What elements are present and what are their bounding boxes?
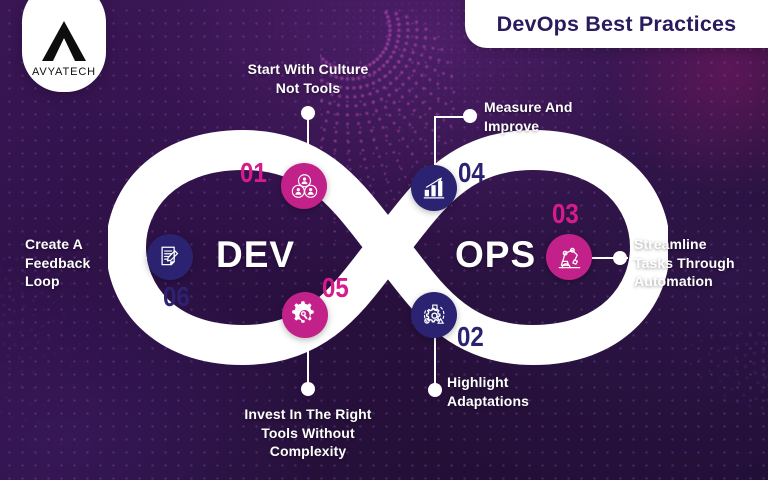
- step-caption-05-line2: Tools Without: [216, 424, 400, 443]
- title-banner: DevOps Best Practices: [465, 0, 768, 48]
- connector-dot-step-02: [428, 383, 442, 397]
- step-caption-04: Measure And Improve: [484, 98, 624, 135]
- step-caption-02-line1: Highlight: [447, 373, 597, 392]
- loop-label-dev: DEV: [216, 234, 295, 276]
- bar-chart-growth-icon: [421, 175, 447, 201]
- step-caption-01-line2: Not Tools: [218, 79, 398, 98]
- step-caption-06-line1: Create A: [25, 235, 145, 254]
- connector-line-step-05: [307, 340, 309, 388]
- step-caption-01: Start With Culture Not Tools: [218, 60, 398, 97]
- chevron-a-logo-icon: [38, 19, 90, 63]
- step-caption-03-line2: Tasks Through: [634, 254, 764, 273]
- step-icon-03[interactable]: [546, 234, 592, 280]
- document-pencil-icon: [157, 244, 183, 270]
- step-caption-02: Highlight Adaptations: [447, 373, 597, 410]
- gear-shapes-icon: [421, 302, 448, 329]
- page-title: DevOps Best Practices: [497, 12, 737, 37]
- step-number-03: 03: [552, 198, 579, 230]
- step-caption-05: Invest In The Right Tools Without Comple…: [216, 405, 400, 461]
- step-caption-02-line2: Adaptations: [447, 392, 597, 411]
- step-number-04: 04: [458, 157, 485, 189]
- step-caption-06-line3: Loop: [25, 272, 145, 291]
- connector-dot-step-03: [613, 251, 627, 265]
- step-number-02: 02: [457, 321, 484, 353]
- step-caption-03-line3: Automation: [634, 272, 764, 291]
- people-group-icon: [291, 173, 318, 200]
- connector-line-step-01: [307, 113, 309, 163]
- step-icon-06[interactable]: [147, 234, 193, 280]
- robot-arm-icon: [556, 244, 583, 271]
- step-caption-05-line1: Invest In The Right: [216, 405, 400, 424]
- step-number-05: 05: [322, 272, 349, 304]
- step-caption-06: Create A Feedback Loop: [25, 235, 145, 291]
- step-caption-03: Streamline Tasks Through Automation: [634, 235, 764, 291]
- step-caption-04-line2: Improve: [484, 117, 624, 136]
- step-caption-06-line2: Feedback: [25, 254, 145, 273]
- logo-text: AVYATECH: [32, 66, 96, 78]
- connector-dot-step-01: [301, 106, 315, 120]
- loop-label-ops: OPS: [455, 234, 536, 276]
- step-caption-04-line1: Measure And: [484, 98, 624, 117]
- connector-dot-step-04: [463, 109, 477, 123]
- step-icon-02[interactable]: [411, 292, 457, 338]
- step-number-06: 06: [163, 281, 190, 313]
- connector-dot-step-05: [301, 382, 315, 396]
- step-number-01: 01: [240, 157, 267, 189]
- gear-wrench-icon: [291, 301, 319, 329]
- connector-line-step-02: [434, 330, 436, 388]
- step-caption-01-line1: Start With Culture: [218, 60, 398, 79]
- connector-line-step-04-horz: [434, 116, 466, 118]
- infographic-canvas: DevOps Best Practices AVYATECH DEV OPS: [0, 0, 768, 480]
- logo-badge: AVYATECH: [22, 0, 106, 92]
- step-icon-01[interactable]: [281, 163, 327, 209]
- step-caption-03-line1: Streamline: [634, 235, 764, 254]
- step-caption-05-line3: Complexity: [216, 442, 400, 461]
- step-icon-04[interactable]: [411, 165, 457, 211]
